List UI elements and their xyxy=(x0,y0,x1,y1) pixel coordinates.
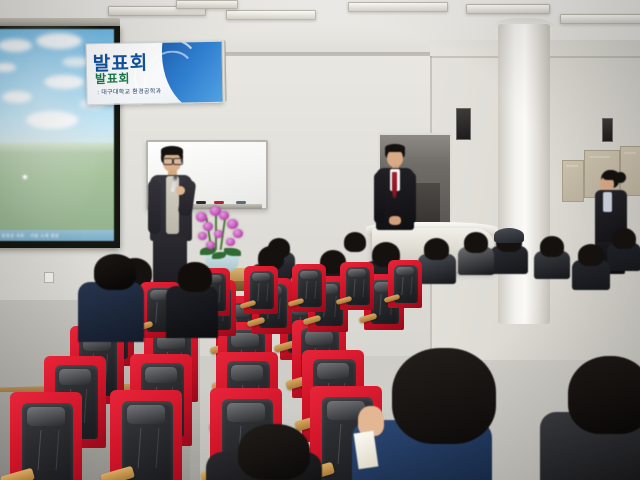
auditorium-photograph: · 동영상 자료 · 기술 소개 영상 발표회 발표회 : 대구대학교 환경공학… xyxy=(0,0,640,480)
foreground-head-short-hair xyxy=(568,356,640,434)
foreground-person xyxy=(0,0,640,480)
